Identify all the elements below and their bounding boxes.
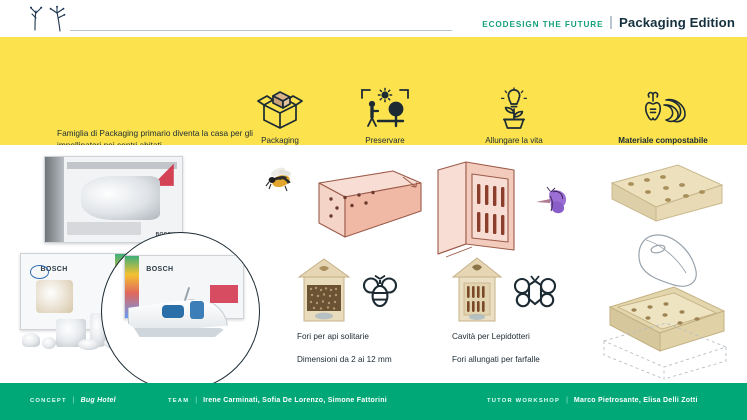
- slide-body: BOSCH BOSCH B: [0, 145, 747, 383]
- slide-header: ECODESIGN THE FUTURE Packaging Edition: [0, 0, 747, 37]
- credit-key: TUTOR WORKSHOP: [487, 398, 560, 404]
- butterfly-hotel-title: Cavità per Lepidotteri: [452, 330, 530, 343]
- slide-footer: CONCEPT | Bug Hotel TEAM | Irene Carmina…: [0, 383, 747, 420]
- credit-key: CONCEPT: [30, 398, 67, 404]
- butterfly-hotel-photo: [448, 253, 506, 325]
- credit-separator: |: [195, 397, 197, 404]
- product-brand-label: BOSCH: [146, 266, 173, 273]
- open-box-icon: [233, 87, 327, 129]
- brand-edition: Packaging Edition: [619, 15, 735, 30]
- credit-tutor-workshop: TUTOR WORKSHOP | Marco Pietrosante, Elis…: [487, 397, 698, 404]
- bee-icon: [358, 275, 402, 309]
- person-tree-sun-icon: [330, 87, 440, 129]
- brand-lockup: ECODESIGN THE FUTURE Packaging Edition: [482, 14, 735, 30]
- butterfly-photo: [533, 186, 569, 218]
- apple-core-banana-peel-icon: [597, 87, 729, 129]
- credit-team: TEAM | Irene Carminati, Sofia De Lorenzo…: [168, 397, 387, 404]
- credit-value: Marco Pietrosante, Elisa Delli Zotti: [574, 397, 698, 404]
- butterfly-icon: [512, 275, 558, 309]
- lightbulb-plant-pot-icon: [455, 87, 573, 129]
- plant-sprig-icon: [22, 4, 82, 32]
- bee-box-sketch: [315, 167, 427, 243]
- butterfly-box-sketch: [432, 158, 524, 264]
- header-rule: [70, 30, 452, 31]
- product-zoom-circle: BOSCH: [101, 232, 260, 391]
- bee-photo: [261, 164, 297, 194]
- product-photo-hairdryer-box: BOSCH: [44, 156, 181, 241]
- yellow-key-message-band: Famiglia di Packaging primario diventa l…: [0, 37, 747, 145]
- brand-separator: [610, 16, 612, 29]
- brand-eyebrow: ECODESIGN THE FUTURE: [482, 20, 603, 29]
- bee-hotel-photo: [295, 255, 353, 325]
- bee-hotel-subtitle: Dimensioni da 2 ai 12 mm: [297, 353, 392, 366]
- exploded-assembly-render: [600, 155, 735, 380]
- credit-concept: CONCEPT | Bug Hotel: [30, 397, 116, 404]
- slide-canvas: ECODESIGN THE FUTURE Packaging Edition F…: [0, 0, 747, 420]
- butterfly-hotel-subtitle: Fori allungati per farfalle: [452, 353, 540, 366]
- credit-key: TEAM: [168, 398, 189, 404]
- credit-value: Irene Carminati, Sofia De Lorenzo, Simon…: [203, 397, 387, 404]
- credit-value: Bug Hotel: [81, 397, 116, 404]
- credit-separator: |: [566, 397, 568, 404]
- credit-separator: |: [73, 397, 75, 404]
- bee-hotel-title: Fori per api solitarie: [297, 330, 369, 343]
